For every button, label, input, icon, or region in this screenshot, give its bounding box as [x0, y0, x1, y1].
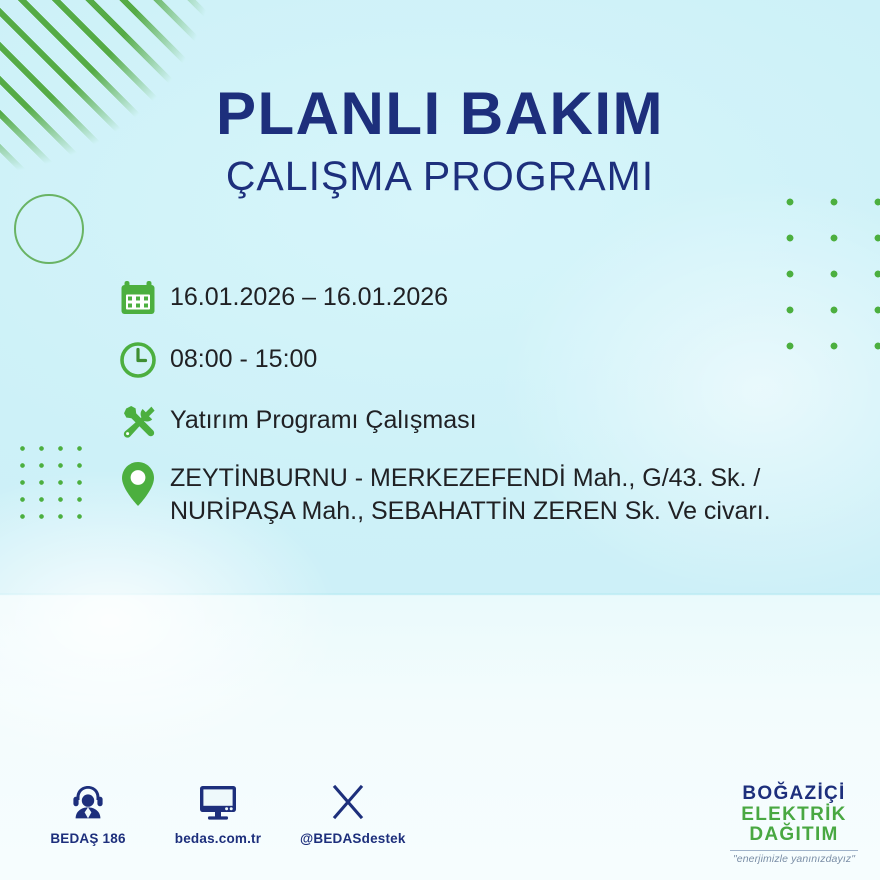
detail-row-location: ZEYTİNBURNU - MERKEZEFENDİ Mah., G/43. S… — [118, 458, 858, 529]
contact-channels: BEDAŞ 186 bedas.com.tr — [40, 780, 396, 846]
maintenance-details-list: 16.01.2026 – 16.01.2026 08:00 - 15:00 — [118, 276, 858, 529]
x-social-icon — [300, 780, 396, 824]
location-pin-icon — [118, 458, 170, 512]
dot-grid-left-decoration — [8, 434, 90, 524]
calendar-icon — [118, 276, 170, 320]
brand-line-dagitim: DAĞITIM — [730, 825, 858, 846]
planned-maintenance-poster: PLANLI BAKIM ÇALIŞMA PROGRAMI — [0, 0, 880, 880]
tools-icon — [118, 400, 170, 444]
detail-row-work-type: Yatırım Programı Çalışması — [118, 400, 858, 444]
contact-website[interactable]: bedas.com.tr — [170, 780, 266, 846]
brand-divider — [730, 850, 858, 851]
brand-tagline: "enerjimizle yanınızdayız" — [730, 854, 858, 865]
circle-outline-decoration — [14, 194, 84, 264]
company-logo: BOĞAZİÇİ ELEKTRİK DAĞITIM "enerjimizle y… — [730, 784, 858, 865]
detail-row-date: 16.01.2026 – 16.01.2026 — [118, 276, 858, 320]
contact-phone-label: BEDAŞ 186 — [40, 831, 136, 846]
title-main: PLANLI BAKIM — [0, 84, 880, 144]
footer: BEDAŞ 186 bedas.com.tr — [0, 780, 880, 880]
clock-icon — [118, 338, 170, 382]
location-text: ZEYTİNBURNU - MERKEZEFENDİ Mah., G/43. S… — [170, 458, 858, 529]
headset-support-icon — [40, 780, 136, 824]
contact-social-label: @BEDASdestek — [300, 831, 396, 846]
contact-website-label: bedas.com.tr — [170, 831, 266, 846]
time-range-text: 08:00 - 15:00 — [170, 338, 858, 376]
title-subtitle: ÇALIŞMA PROGRAMI — [0, 156, 880, 197]
work-type-text: Yatırım Programı Çalışması — [170, 400, 858, 437]
detail-row-time: 08:00 - 15:00 — [118, 338, 858, 382]
page-title: PLANLI BAKIM ÇALIŞMA PROGRAMI — [0, 84, 880, 197]
contact-social-x[interactable]: @BEDASdestek — [300, 780, 396, 846]
contact-phone[interactable]: BEDAŞ 186 — [40, 780, 136, 846]
brand-line-elektrik: ELEKTRİK — [730, 805, 858, 826]
brand-line-bogazici: BOĞAZİÇİ — [730, 784, 858, 805]
monitor-icon — [170, 780, 266, 824]
date-range-text: 16.01.2026 – 16.01.2026 — [170, 276, 858, 314]
